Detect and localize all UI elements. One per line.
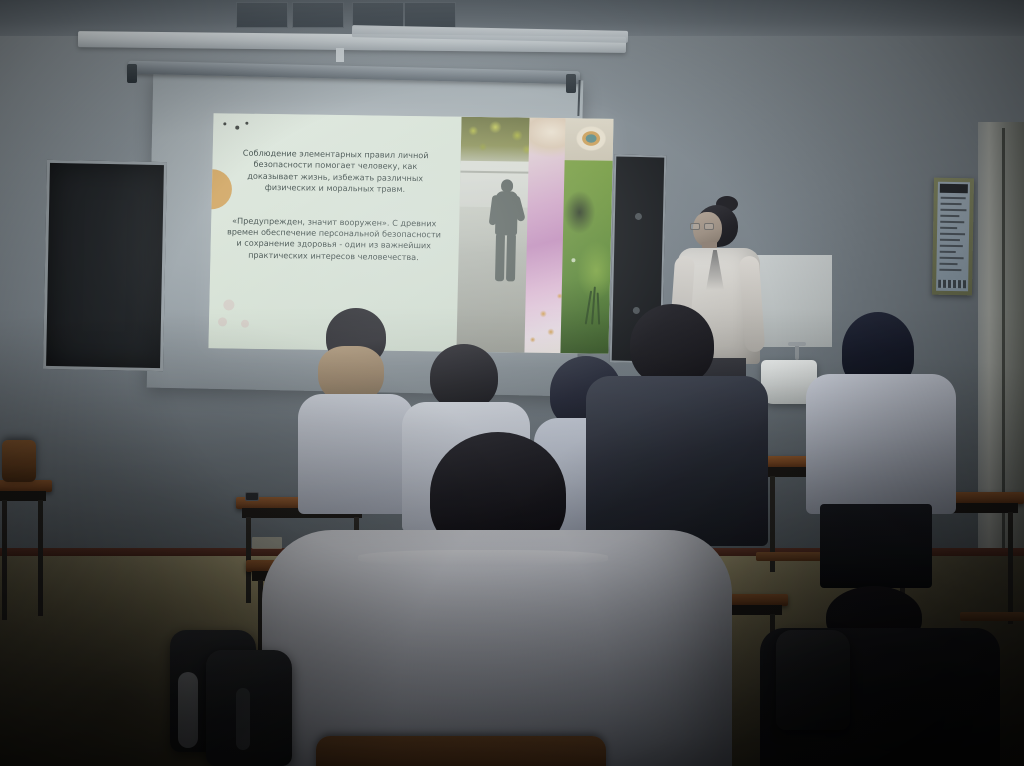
- wall-vent: [352, 2, 404, 28]
- notice-text-line: [940, 251, 956, 253]
- left-chalkboard: [43, 160, 167, 371]
- slide-dot-decoration: [223, 122, 226, 125]
- student-skirt: [820, 504, 932, 588]
- chair-back: [2, 440, 36, 482]
- notice-text-line: [940, 227, 957, 229]
- notice-board-sheet: [936, 182, 970, 292]
- slide-paragraph-2: «Предупрежден, значит вооружен». С древн…: [226, 215, 441, 264]
- screen-roller-bracket-left: [127, 64, 137, 83]
- desk-leg: [2, 500, 7, 620]
- notice-text-line: [940, 263, 958, 265]
- silhouette-leg-right: [506, 233, 516, 281]
- slide-dot-decoration: [235, 126, 239, 130]
- person-silhouette: [488, 179, 524, 285]
- student-foreground: [262, 432, 732, 766]
- notice-text-line: [939, 269, 961, 271]
- notice-text-line: [940, 209, 966, 211]
- notice-text-line: [940, 257, 964, 259]
- slide-dot-decoration: [245, 122, 248, 125]
- wall-vent: [404, 2, 456, 28]
- notice-text-line: [940, 239, 960, 241]
- slide-paragraph-1: Соблюдение элементарных правил личной бе…: [228, 147, 443, 196]
- student-headscarf-2: [806, 312, 956, 572]
- notice-text-line: [941, 203, 962, 205]
- eye-photo: [565, 118, 614, 161]
- wall-vent: [236, 2, 288, 28]
- notice-text-line: [941, 197, 966, 199]
- green-photo-highlight: [571, 258, 575, 262]
- notice-board-footer: [938, 280, 966, 288]
- glasses-icon: [690, 223, 715, 230]
- screen-roller-bracket-right: [566, 74, 576, 93]
- chair-back: [316, 736, 606, 766]
- silhouette-leg-left: [495, 233, 505, 281]
- board-knob: [635, 213, 642, 220]
- desk-leg: [1008, 512, 1013, 624]
- notice-text-line: [940, 221, 964, 223]
- light-mount-stem: [336, 48, 344, 62]
- faucet[interactable]: [795, 344, 799, 360]
- doorway[interactable]: [978, 122, 1024, 552]
- notice-board-header: [940, 184, 968, 193]
- notice-text-line: [940, 233, 965, 235]
- presentation-slide: Соблюдение элементарных правил личной бе…: [208, 113, 613, 354]
- student-hair: [630, 304, 714, 386]
- desk-leg: [38, 500, 43, 616]
- notice-text-line: [940, 215, 959, 217]
- notice-text-line: [940, 245, 963, 247]
- backpack[interactable]: [776, 630, 850, 730]
- wall-notice-board: [932, 178, 974, 296]
- door-edge: [1002, 128, 1005, 548]
- classroom-photo: Соблюдение элементарных правил личной бе…: [0, 0, 1024, 766]
- backpack-strap: [236, 688, 250, 750]
- student-coat: [806, 374, 956, 514]
- student-hair: [430, 344, 498, 410]
- student-shirt-collar: [358, 550, 608, 566]
- wall-vent: [292, 2, 344, 28]
- phone[interactable]: [245, 492, 259, 501]
- slide-body-text: Соблюдение элементарных правил личной бе…: [226, 147, 442, 263]
- backpack-strap: [178, 672, 198, 748]
